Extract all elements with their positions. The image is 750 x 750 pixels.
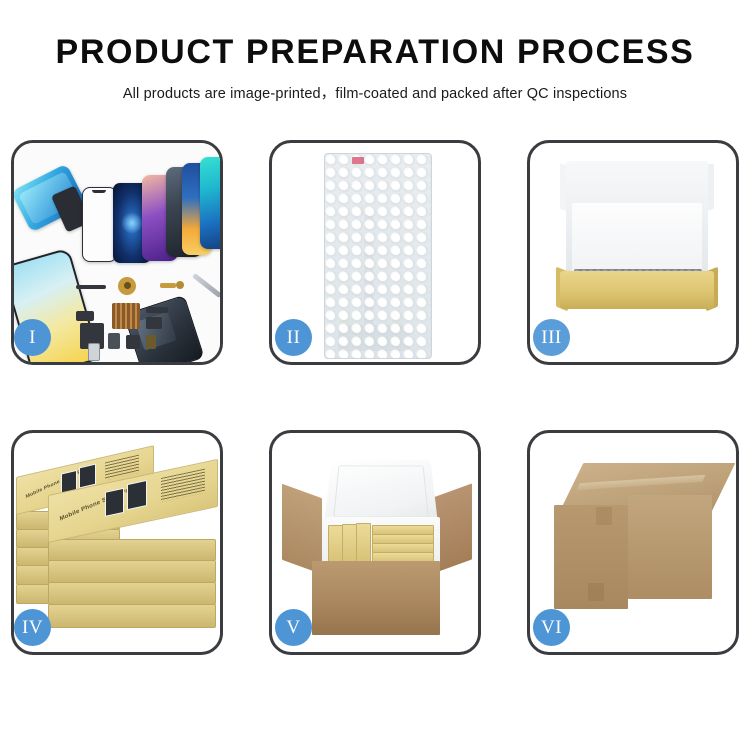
- carton-seam-lower: [588, 583, 604, 601]
- gold-boxes-inside: [328, 521, 434, 561]
- bag-seal-label: [352, 157, 364, 164]
- step-badge-3: III: [533, 319, 570, 356]
- process-step-grid: I II: [11, 140, 739, 674]
- step-badge-1: I: [14, 319, 51, 356]
- gold-tray-box: [560, 271, 714, 309]
- step-panel-2: II: [269, 140, 481, 365]
- white-foam-sheet: [572, 203, 702, 277]
- bubble-wrap-texture: [324, 153, 430, 357]
- page-title: PRODUCT PREPARATION PROCESS: [0, 34, 750, 71]
- step-panel-3: III: [527, 140, 739, 365]
- header: PRODUCT PREPARATION PROCESS All products…: [0, 34, 750, 103]
- step-panel-1: I: [11, 140, 223, 365]
- carton-right-face: [628, 495, 712, 599]
- foam-box-lid: [324, 460, 438, 525]
- step-badge-4: IV: [14, 609, 51, 646]
- retail-box-label-front: Mobile Phone Spare Parts: [59, 484, 137, 522]
- phone-white-front: [82, 187, 117, 262]
- carton-front-panel: [312, 561, 440, 635]
- phone-teal-gradient: [200, 157, 220, 249]
- spare-parts-group: [76, 277, 220, 362]
- step-badge-5: V: [275, 609, 312, 646]
- product-preparation-page: PRODUCT PREPARATION PROCESS All products…: [0, 0, 750, 750]
- carton-seam-upper: [596, 507, 612, 525]
- step-panel-5: V: [269, 430, 481, 655]
- step-badge-2: II: [275, 319, 312, 356]
- step-panel-4: Mobile Phone Spare Parts Mobile Phone Sp…: [11, 430, 223, 655]
- step-badge-6: VI: [533, 609, 570, 646]
- step-panel-6: VI: [527, 430, 739, 655]
- page-subtitle: All products are image-printed，film-coat…: [0, 82, 750, 103]
